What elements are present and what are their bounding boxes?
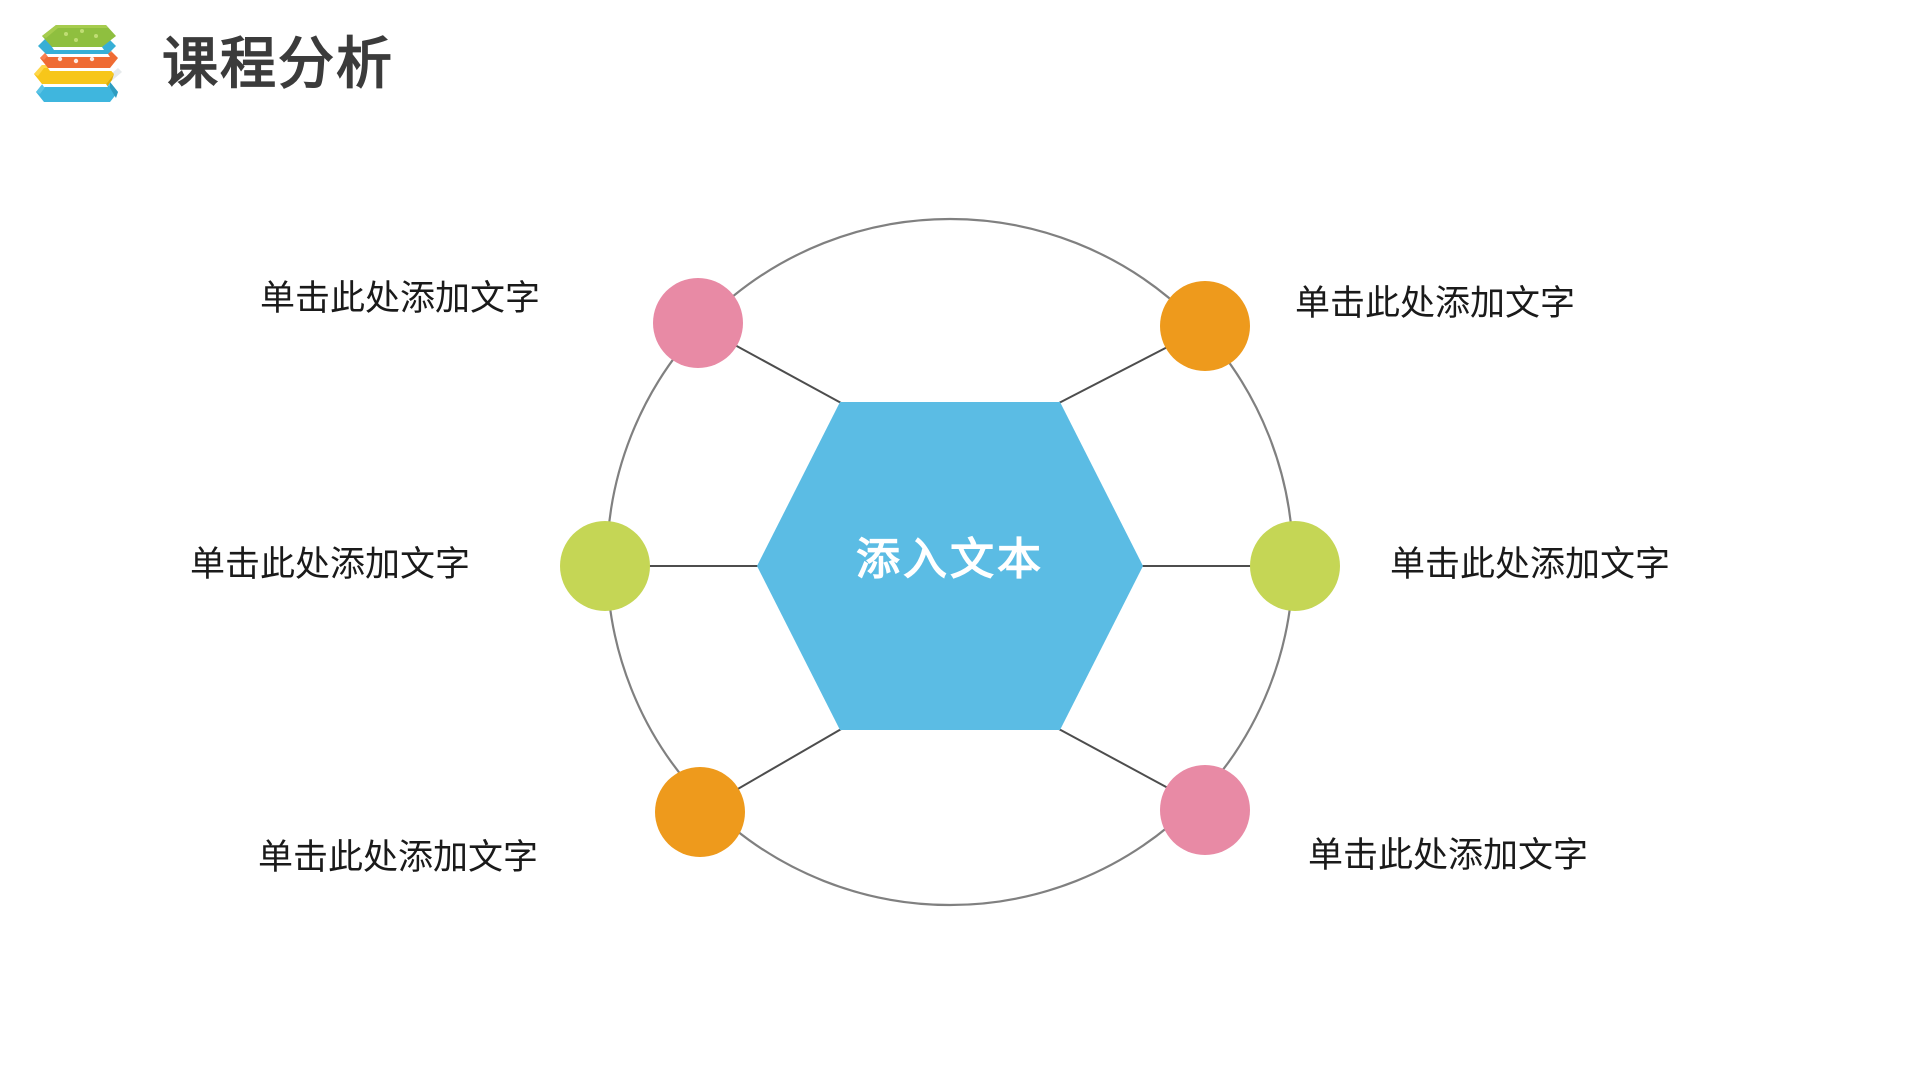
node-circle-middle-left[interactable] [560,521,650,611]
node-circle-bottom-right[interactable] [1160,765,1250,855]
connector-bottom-left [724,728,843,797]
slide-canvas: 课程分析 [0,0,1920,1080]
node-circle-bottom-left[interactable] [655,767,745,857]
node-label-bottom-right[interactable]: 单击此处添加文字 [1308,836,1588,876]
node-label-top-left[interactable]: 单击此处添加文字 [260,279,540,319]
radial-hexagon-diagram: 添入文本 单击此处添加文字 单击此处添加文字 单击此处添加文字 单击此处添加文字… [0,0,1920,1080]
diagram-canvas [0,0,1920,1080]
connector-top-left [722,338,843,404]
node-label-middle-left[interactable]: 单击此处添加文字 [190,545,470,585]
node-circle-middle-right[interactable] [1250,521,1340,611]
node-label-top-right[interactable]: 单击此处添加文字 [1295,284,1575,324]
connector-bottom-right [1057,728,1181,795]
node-label-middle-right[interactable]: 单击此处添加文字 [1390,545,1670,585]
node-circle-top-left[interactable] [653,278,743,368]
center-hexagon[interactable] [757,402,1143,730]
node-circle-top-right[interactable] [1160,281,1250,371]
connector-top-right [1057,340,1181,404]
node-label-bottom-left[interactable]: 单击此处添加文字 [258,838,538,878]
